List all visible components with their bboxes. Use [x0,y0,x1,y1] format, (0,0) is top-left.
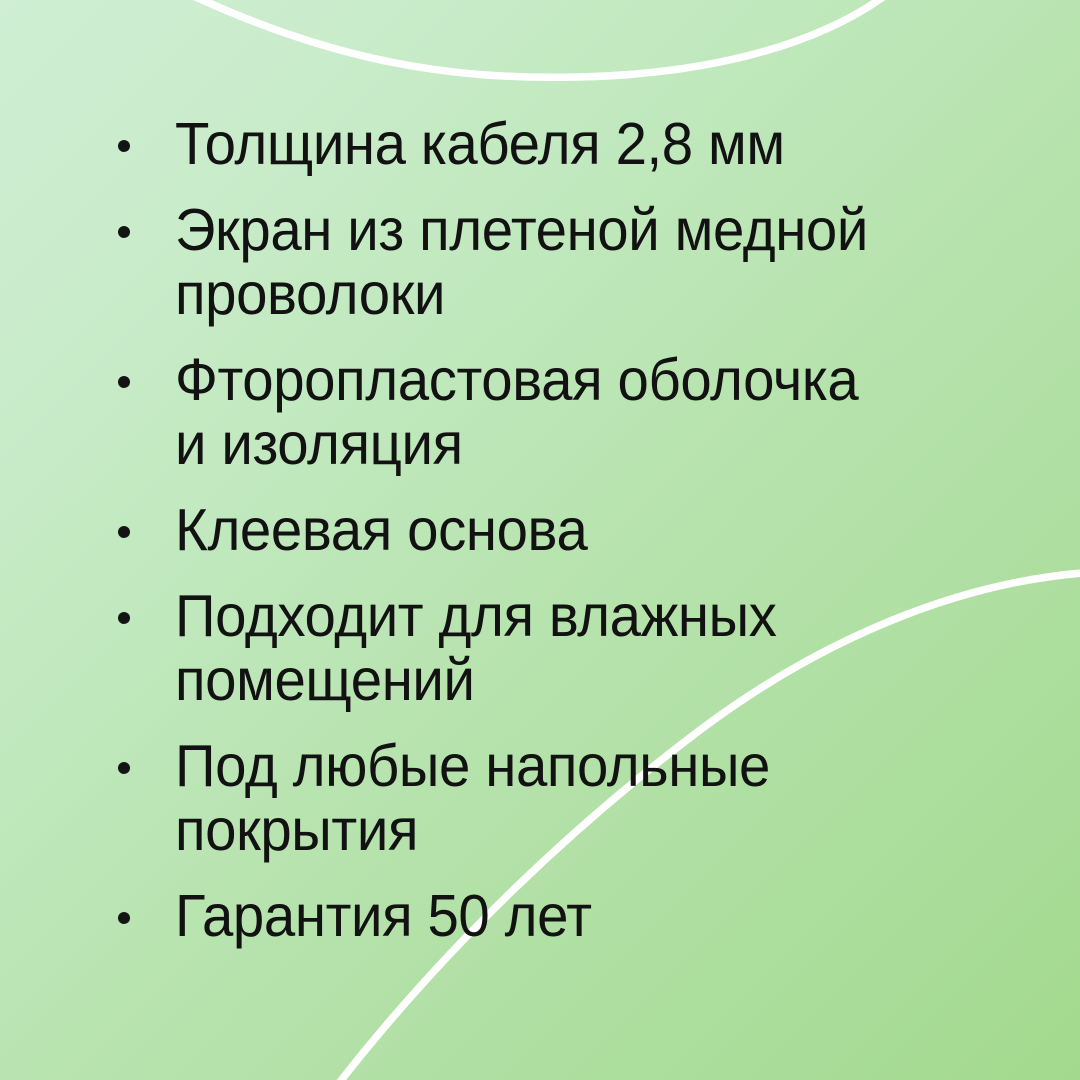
list-item: Фторопластовая оболочка и изоляция [0,348,1080,476]
bullet-dot-icon [118,526,130,538]
list-item: Под любые напольные покрытия [0,734,1080,862]
bullet-dot-icon [118,912,130,924]
promo-slide: Толщина кабеля 2,8 мм Экран из плетеной … [0,0,1080,1080]
bullet-dot-icon [118,226,130,238]
feature-text: Клеевая основа [175,498,982,562]
feature-text: Толщина кабеля 2,8 мм [175,112,982,176]
feature-text: Гарантия 50 лет [175,884,982,948]
feature-text: Фторопластовая оболочка и изоляция [175,348,982,476]
feature-list: Толщина кабеля 2,8 мм Экран из плетеной … [0,112,1080,948]
bullet-dot-icon [118,762,130,774]
list-item: Толщина кабеля 2,8 мм [0,112,1080,176]
list-item: Подходит для влажных помещений [0,584,1080,712]
feature-text: Подходит для влажных помещений [175,584,982,712]
list-item: Гарантия 50 лет [0,884,1080,948]
list-item: Клеевая основа [0,498,1080,562]
bullet-dot-icon [118,376,130,388]
bullet-dot-icon [118,140,130,152]
top-white-arc [172,0,900,77]
feature-text: Под любые напольные покрытия [175,734,982,862]
bullet-dot-icon [118,612,130,624]
feature-text: Экран из плетеной медной проволоки [175,198,982,326]
list-item: Экран из плетеной медной проволоки [0,198,1080,326]
